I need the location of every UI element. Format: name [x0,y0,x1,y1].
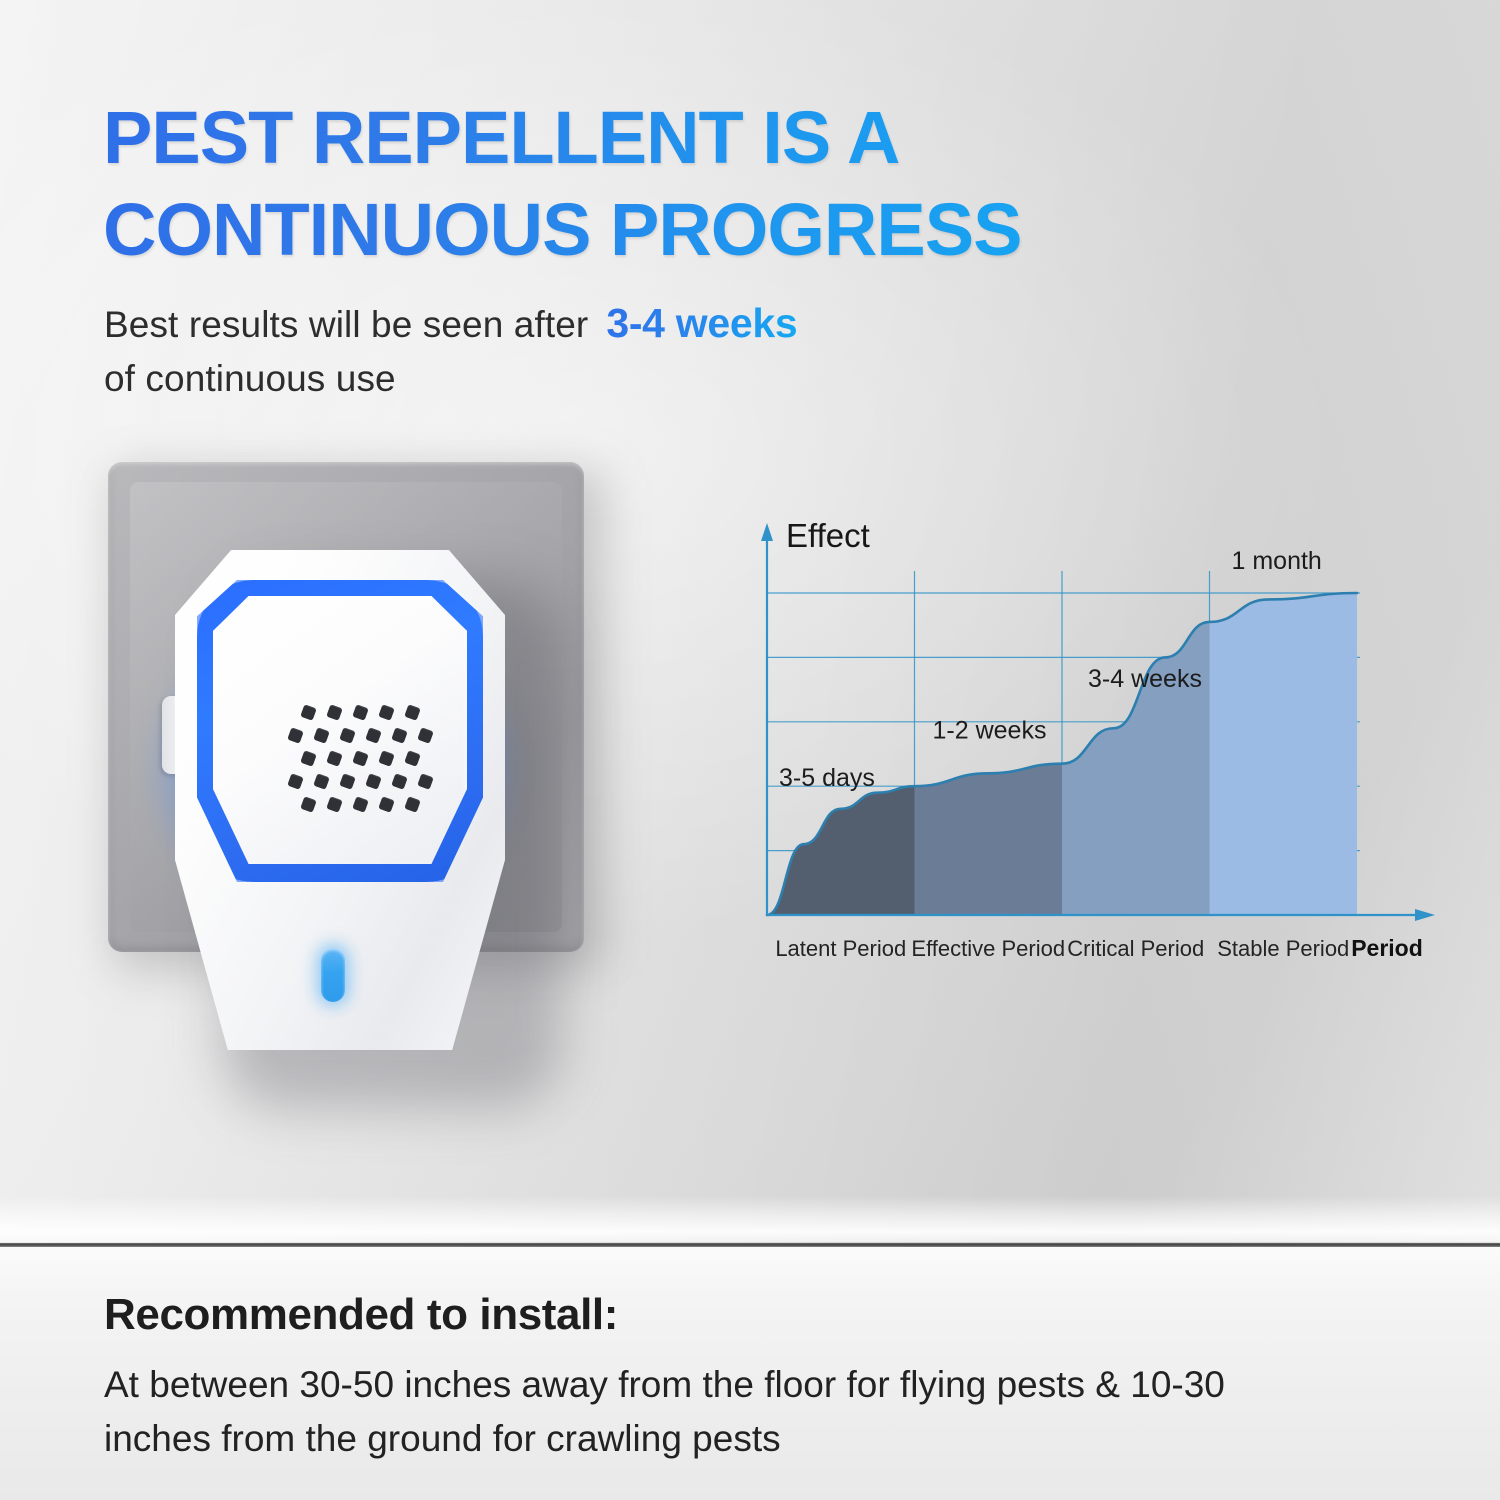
installation-line-2: inches from the ground for crawling pest… [104,1412,1424,1466]
band-annotation: 1-2 weeks [933,717,1047,745]
speaker-hole [326,750,343,767]
speaker-hole [287,727,304,744]
installation-body: At between 30-50 inches away from the fl… [104,1358,1424,1466]
speaker-hole [352,796,369,813]
speaker-hole [313,773,330,790]
speaker-hole [404,704,421,721]
x-tick-label: Stable Period [1217,936,1349,961]
speaker-hole [352,704,369,721]
band-annotation: 3-4 weeks [1088,665,1202,693]
band-3 [1062,553,1210,915]
speaker-hole [326,704,343,721]
band-4 [1210,553,1358,915]
x-tick-label: Critical Period [1067,936,1204,961]
speaker-hole [300,796,317,813]
subheadline-prefix: Best results will be seen after [104,304,588,345]
installation-line-1: At between 30-50 inches away from the fl… [104,1358,1424,1412]
speaker-hole [404,796,421,813]
device-photo [100,440,740,1140]
chart-svg: EffectPeriodLatent PeriodEffective Perio… [740,505,1470,975]
speaker-hole [352,750,369,767]
x-tick-label: Latent Period [775,936,906,961]
subheadline: Best results will be seen after3-4 weeks… [104,296,1004,406]
speaker-hole [339,727,356,744]
subheadline-line-1: Best results will be seen after3-4 weeks [104,296,1004,352]
speaker-hole [300,704,317,721]
x-axis-title: Period [1351,935,1423,961]
speaker-hole [417,773,434,790]
speaker-hole [391,727,408,744]
speaker-hole [287,773,304,790]
installation-advice: Recommended to install: At between 30-50… [104,1286,1424,1466]
headline-line-2: CONTINUOUS PROGRESS [103,184,1163,276]
band-annotation: 1 month [1232,547,1322,575]
speaker-hole [365,727,382,744]
speaker-hole [404,750,421,767]
repeller-device [175,550,505,1050]
headline-line-1: PEST REPELLENT IS A [103,92,1163,184]
speaker-hole [391,773,408,790]
band-annotation: 3-5 days [779,764,875,792]
device-faceplate [213,596,467,864]
speaker-hole [417,727,434,744]
installation-title: Recommended to install: [104,1286,1424,1344]
speaker-hole [300,750,317,767]
speaker-hole [378,704,395,721]
effect-over-time-chart: EffectPeriodLatent PeriodEffective Perio… [740,505,1470,975]
speaker-hole [365,773,382,790]
speaker-hole [378,796,395,813]
headline: PEST REPELLENT IS A CONTINUOUS PROGRESS [103,92,1163,276]
y-axis-title: Effect [786,517,870,554]
x-axis-arrow [1415,909,1435,921]
subheadline-accent: 3-4 weeks [588,300,797,346]
speaker-hole [378,750,395,767]
speaker-hole [313,727,330,744]
y-axis-arrow [761,523,773,541]
speaker-grille [285,688,435,828]
subheadline-line-2: of continuous use [104,352,1004,406]
band-1 [767,553,915,915]
speaker-hole [339,773,356,790]
status-led-indicator [321,948,345,1002]
x-tick-label: Effective Period [911,936,1065,961]
speaker-hole [326,796,343,813]
shelf-highlight [0,1196,1500,1242]
